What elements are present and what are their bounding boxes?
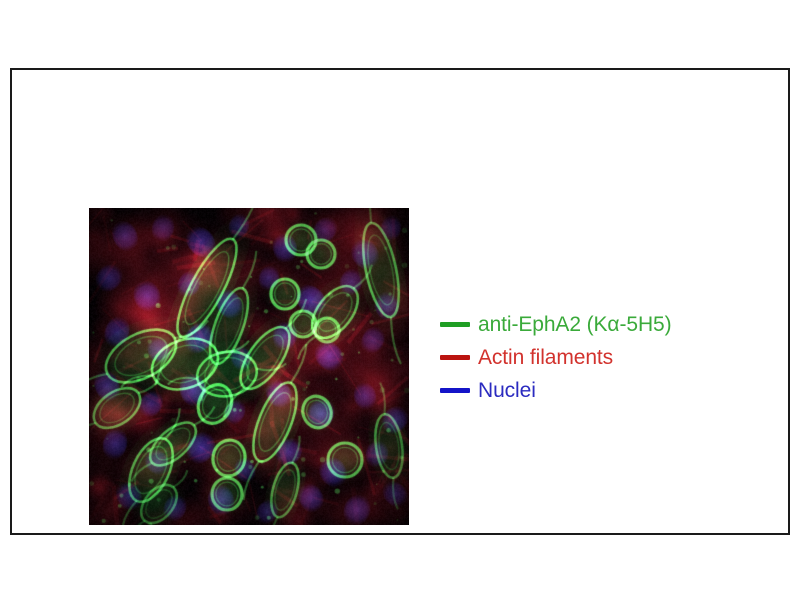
legend-label-epha2: anti-EphA2 (Kα-5H5) bbox=[478, 313, 672, 336]
legend-label-nuclei: Nuclei bbox=[478, 379, 536, 402]
legend-swatch-green bbox=[440, 322, 470, 327]
legend-item-epha2: anti-EphA2 (Kα-5H5) bbox=[440, 308, 780, 341]
legend-item-actin: Actin filaments bbox=[440, 341, 780, 374]
legend: anti-EphA2 (Kα-5H5) Actin filaments Nucl… bbox=[440, 308, 780, 407]
micrograph-panel bbox=[89, 208, 409, 525]
legend-label-actin: Actin filaments bbox=[478, 346, 613, 369]
figure-frame: anti-EphA2 (Kα-5H5) Actin filaments Nucl… bbox=[10, 68, 790, 535]
micrograph-image bbox=[89, 208, 409, 525]
legend-swatch-red bbox=[440, 355, 470, 360]
legend-swatch-blue bbox=[440, 388, 470, 393]
legend-item-nuclei: Nuclei bbox=[440, 374, 780, 407]
